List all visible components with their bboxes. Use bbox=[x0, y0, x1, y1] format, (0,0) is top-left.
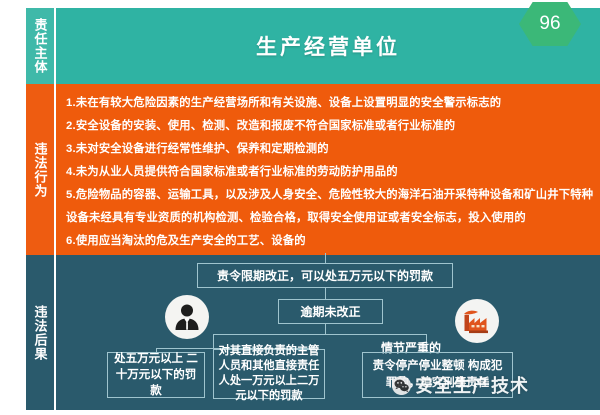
list-item: 2.安全设备的安装、使用、检测、改造和报废不符合国家标准或者行业标准的 bbox=[66, 115, 594, 138]
connector-line bbox=[325, 253, 326, 263]
flow-box-shutdown: 责令停产停业整顿 构成犯罪的，追究刑事责任 bbox=[362, 352, 513, 398]
list-item: 5.危险物品的容器、运输工具，以及涉及人身安全、危险性较大的海洋石油开采特种设备… bbox=[66, 184, 594, 230]
factory-icon bbox=[455, 299, 499, 343]
flow-box-order-correction: 责令限期改正，可以处五万元以下的罚款 bbox=[197, 263, 453, 288]
list-item: 4.未为从业人员提供符合国家标准或者行业标准的劳动防护用品的 bbox=[66, 161, 594, 184]
connector-line bbox=[213, 334, 426, 335]
consequences-panel: 责令限期改正，可以处五万元以下的罚款 逾期未改正 情节严重的 处五万元以上 二十… bbox=[56, 255, 600, 410]
flow-box-order-correction-text: 责令限期改正，可以处五万元以下的罚款 bbox=[213, 267, 437, 284]
subject-panel: 生产经营单位 bbox=[56, 8, 600, 84]
section-label-consequences: 违法后果 bbox=[26, 255, 54, 410]
connector-line bbox=[325, 288, 326, 299]
page-title: 生产经营单位 bbox=[56, 31, 600, 61]
flow-box-person-fine-text: 对其直接负责的主管人员和其他直接责任人处一万元以上二万元以下的罚款 bbox=[214, 344, 324, 404]
list-item: 1.未在有较大危险因素的生产经营场所和有关设施、设备上设置明显的安全警示标志的 bbox=[66, 92, 594, 115]
flow-box-overdue: 逾期未改正 bbox=[278, 299, 383, 324]
person-icon bbox=[165, 295, 209, 339]
flow-box-person-fine: 对其直接负责的主管人员和其他直接责任人处一万元以上二万元以下的罚款 bbox=[213, 349, 325, 399]
section-consequences: 违法后果 责令限期改正，可以处五万元以下的罚款 逾期未改正 bbox=[0, 255, 600, 410]
list-item: 6.使用应当淘汰的危及生产安全的工艺、设备的 bbox=[66, 230, 594, 253]
connector-line bbox=[325, 324, 326, 334]
section-violations: 违法行为 1.未在有较大危险因素的生产经营场所和有关设施、设备上设置明显的安全警… bbox=[0, 84, 600, 255]
flow-box-overdue-text: 逾期未改正 bbox=[296, 303, 364, 320]
violations-panel: 1.未在有较大危险因素的生产经营场所和有关设施、设备上设置明显的安全警示标志的 … bbox=[56, 84, 600, 255]
flow-box-entity-fine-text: 处五万元以上 二十万元以下的罚款 bbox=[108, 351, 204, 399]
violations-list: 1.未在有较大危险因素的生产经营场所和有关设施、设备上设置明显的安全警示标志的 … bbox=[66, 92, 594, 253]
list-item: 3.未对安全设备进行经常性维护、保养和定期检测的 bbox=[66, 138, 594, 161]
section-label-violations: 违法行为 bbox=[26, 84, 54, 255]
section-subject: 责任主体 生产经营单位 bbox=[0, 8, 600, 84]
consequences-flowchart: 责令限期改正，可以处五万元以下的罚款 逾期未改正 情节严重的 处五万元以上 二十… bbox=[56, 255, 600, 410]
flow-box-entity-fine: 处五万元以上 二十万元以下的罚款 bbox=[107, 352, 205, 398]
infographic-page: 责任主体 生产经营单位 96 违法行为 1.未在有较大危险因素的生产经营场所和有… bbox=[0, 0, 600, 415]
section-label-subject: 责任主体 bbox=[26, 8, 54, 84]
flow-box-shutdown-text: 责令停产停业整顿 构成犯罪的，追究刑事责任 bbox=[363, 358, 512, 392]
